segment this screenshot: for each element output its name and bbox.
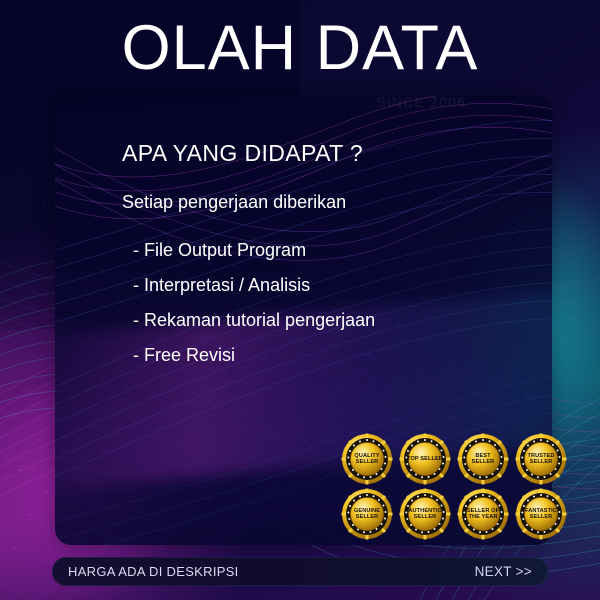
seller-badges: QUALITY SELLER	[341, 433, 571, 542]
list-item: - Rekaman tutorial pengerjaan	[122, 308, 532, 332]
bottom-bar: HARGA ADA DI DESKRIPSI NEXT >>	[52, 557, 548, 586]
page-title: OLAH DATA	[122, 14, 479, 82]
badge-label: TOP SELLER	[406, 456, 444, 462]
badge-label: TRUSTED SELLER	[522, 453, 560, 466]
best-seller-badge: BEST SELLER	[457, 433, 509, 485]
badge-label: SELLER OF THE YEAR	[464, 508, 502, 521]
price-note-label: HARGA ADA DI DESKRIPSI	[68, 564, 239, 579]
list-item: - Free Revisi	[122, 343, 532, 367]
question-heading: APA YANG DIDAPAT ?	[122, 138, 532, 168]
seller-of-the-year-badge: SELLER OF THE YEAR	[457, 488, 509, 540]
next-button[interactable]: NEXT >>	[475, 564, 532, 579]
badge-label: BEST SELLER	[464, 453, 502, 466]
fantastic-seller-badge: FANTASTIC SELLER	[515, 488, 567, 540]
list-item: - Interpretasi / Analisis	[122, 273, 532, 297]
lead-text: Setiap pengerjaan diberikan	[122, 190, 532, 214]
badge-label: AUTHENTIC SELLER	[406, 508, 444, 521]
badge-label: QUALITY SELLER	[348, 453, 386, 466]
slide-canvas: OLAH DATA SINCE 2006	[0, 0, 600, 600]
trusted-seller-badge: TRUSTED SELLER	[515, 433, 567, 485]
badge-label: FANTASTIC SELLER	[522, 508, 560, 521]
list-item: - File Output Program	[122, 238, 532, 262]
panel-content: APA YANG DIDAPAT ? Setiap pengerjaan dib…	[122, 138, 532, 378]
badge-label: GENUINE SELLER	[348, 508, 386, 521]
authentic-seller-badge: AUTHENTIC SELLER	[399, 488, 451, 540]
title-block: OLAH DATA SINCE 2006	[0, 14, 600, 82]
quality-seller-badge: QUALITY SELLER	[341, 433, 393, 485]
top-seller-badge: TOP SELLER	[399, 433, 451, 485]
deliverables-list: - File Output Program - Interpretasi / A…	[122, 238, 532, 367]
genuine-seller-badge: GENUINE SELLER	[341, 488, 393, 540]
